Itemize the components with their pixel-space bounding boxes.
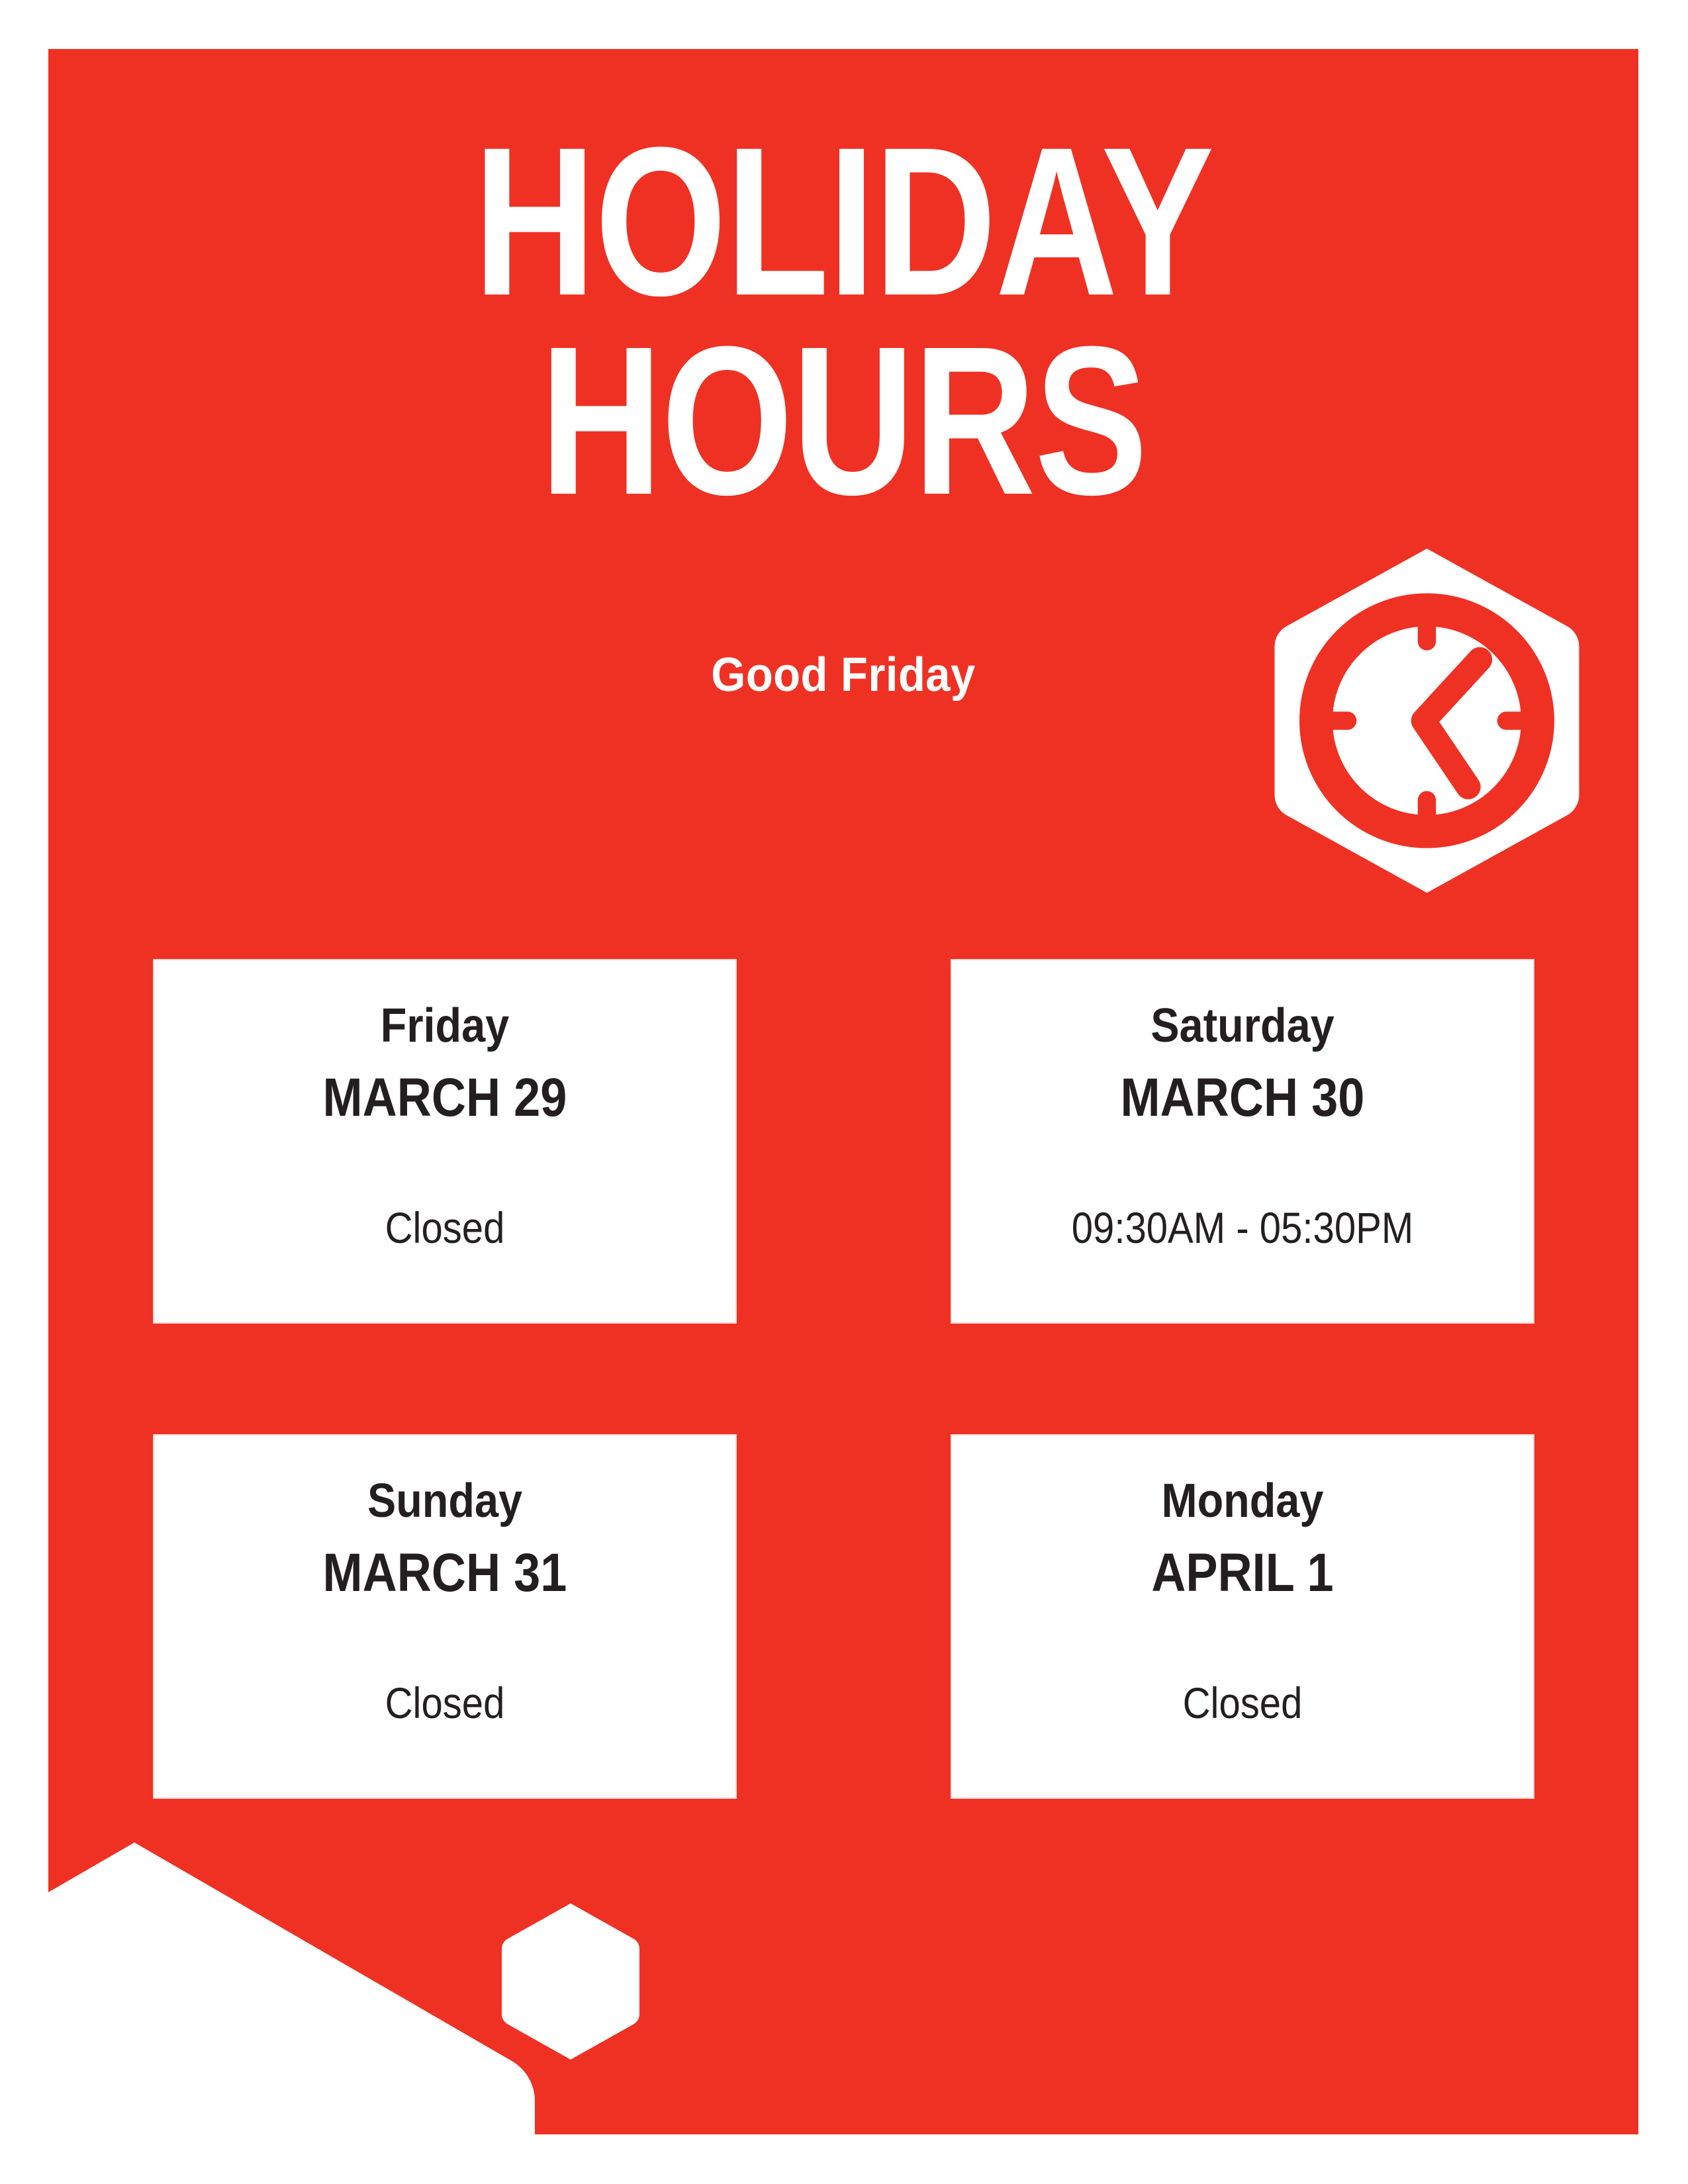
page-title: HOLIDAY HOURS bbox=[207, 122, 1479, 520]
schedule-card-day: Sunday bbox=[183, 1474, 706, 1529]
schedule-card-hours: 09:30AM - 05:30PM bbox=[987, 1202, 1499, 1254]
schedule-card-date: MARCH 29 bbox=[189, 1066, 701, 1130]
schedule-card[interactable]: Monday APRIL 1 Closed bbox=[951, 1434, 1534, 1799]
page-title-line-1: HOLIDAY bbox=[207, 122, 1479, 321]
schedule-card-hours: Closed bbox=[987, 1677, 1499, 1729]
hexagon-shape bbox=[500, 1902, 641, 2061]
schedule-card-date: APRIL 1 bbox=[987, 1541, 1499, 1606]
page-title-line-2: HOURS bbox=[207, 321, 1479, 520]
schedule-card-hours: Closed bbox=[189, 1677, 701, 1729]
hexagon-shape bbox=[48, 1836, 538, 2134]
schedule-card-date: MARCH 30 bbox=[987, 1066, 1499, 1130]
schedule-card-date: MARCH 31 bbox=[189, 1541, 701, 1606]
schedule-card-day: Friday bbox=[183, 999, 706, 1054]
hexagon-clock-icon bbox=[1270, 545, 1584, 896]
holiday-hours-poster: HOLIDAY HOURS Good Friday bbox=[0, 0, 1688, 2184]
schedule-card[interactable]: Friday MARCH 29 Closed bbox=[153, 959, 737, 1324]
schedule-card-day: Monday bbox=[981, 1474, 1504, 1529]
schedule-card[interactable]: Saturday MARCH 30 09:30AM - 05:30PM bbox=[951, 959, 1534, 1324]
schedule-card-hours: Closed bbox=[189, 1202, 701, 1254]
schedule-card[interactable]: Sunday MARCH 31 Closed bbox=[153, 1434, 737, 1799]
schedule-card-day: Saturday bbox=[981, 999, 1504, 1054]
